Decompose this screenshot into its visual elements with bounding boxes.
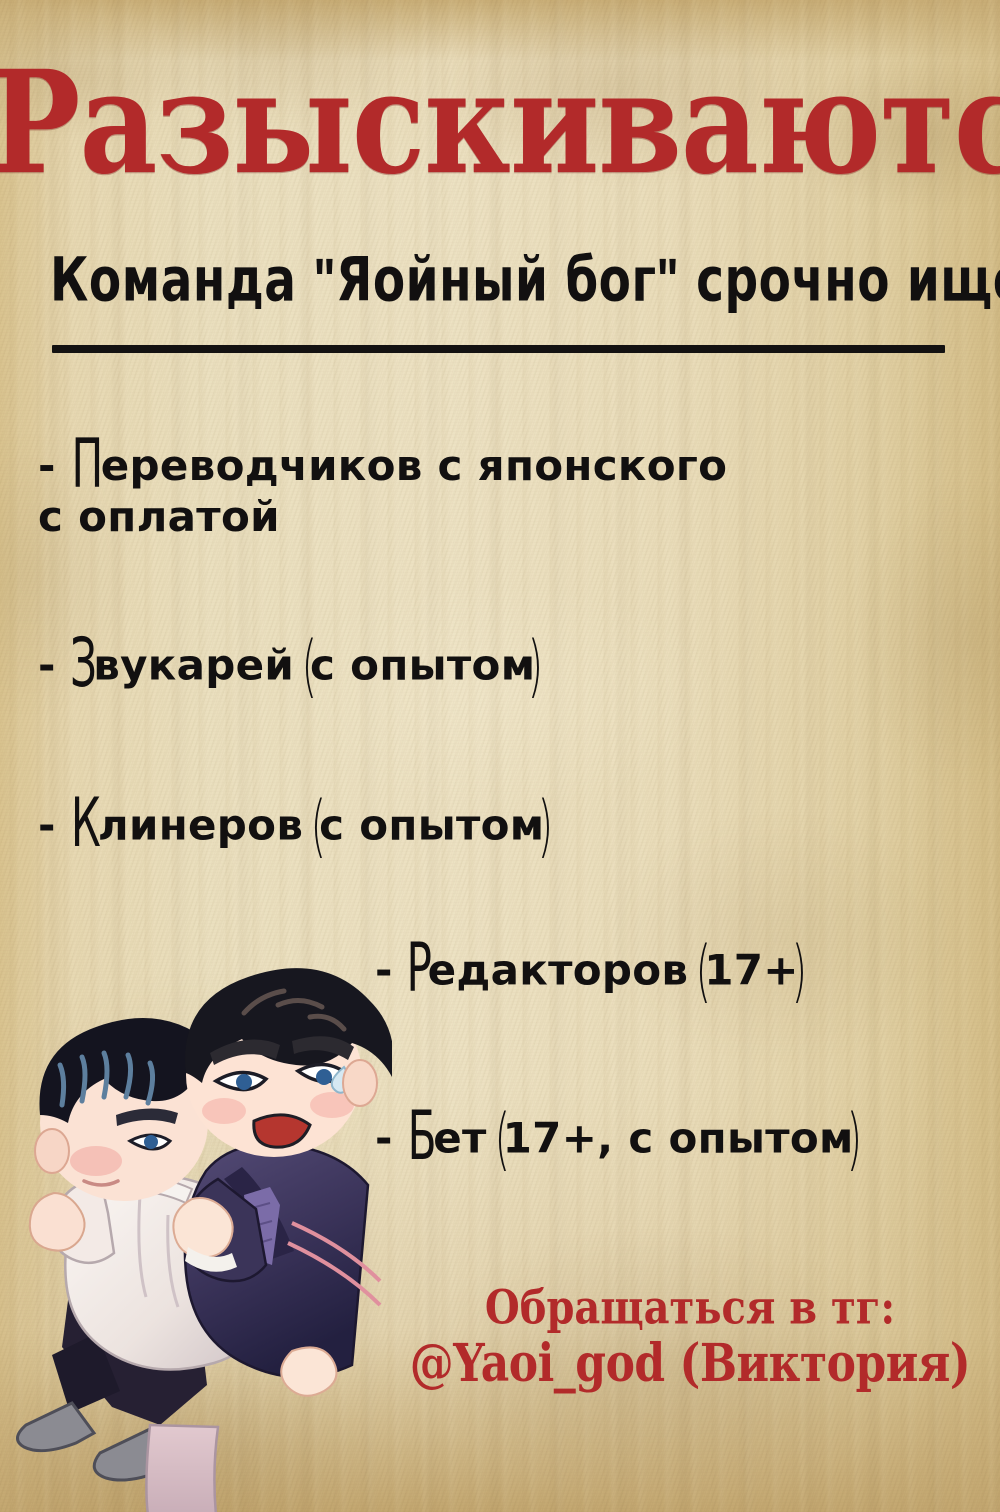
carrier-support-hand (281, 1347, 336, 1395)
list-item: - Звукарей (с опытом) (38, 625, 536, 708)
paren-open: ( (311, 785, 327, 868)
subtitle-block: Команда "Яойный бог" срочно ищет: (50, 255, 950, 305)
list-item-qualifier: 17+, с опытом (503, 1113, 854, 1162)
paren-open: ( (696, 930, 712, 1013)
subtitle-underline-rule (52, 345, 945, 353)
subtitle-suffix: срочно ищет: (679, 245, 1000, 315)
subtitle-prefix: Команда (50, 245, 313, 315)
contact-block: Обращаться в тг: @Yaoi_god (Виктория) (400, 1282, 980, 1393)
list-item: - Переводчиков с японского с оплатой (38, 440, 727, 542)
contact-label: Обращаться в тг: (400, 1282, 980, 1335)
list-item-text: едакторов (428, 945, 689, 994)
quote-open-mark: " (313, 245, 336, 313)
quote-close-mark: " (657, 245, 680, 313)
list-bullet: - (38, 640, 56, 689)
list-item: - Редакторов (17+) (375, 930, 800, 1013)
paren-open: ( (494, 1098, 510, 1181)
carrier-trouser-leg (146, 1425, 218, 1512)
paren-close: ) (846, 1098, 862, 1181)
chibi-couple-illustration (0, 955, 392, 1512)
list-item: - Клинеров (с опытом) (38, 785, 545, 868)
drop-cap-letter: Б (407, 1117, 435, 1158)
list-item: - Бет (17+, с опытом) (375, 1098, 855, 1181)
list-item-text: вукарей (93, 640, 294, 689)
drop-cap-letter: З (70, 644, 96, 685)
paren-close: ) (791, 930, 807, 1013)
list-item-qualifier: с опытом (310, 640, 535, 689)
paren-close: ) (528, 625, 544, 708)
list-item-subline: с оплатой (38, 491, 727, 542)
list-item-text: линеров (98, 800, 303, 849)
list-bullet: - (38, 441, 56, 490)
list-bullet: - (38, 800, 56, 849)
subtitle-line: Команда "Яойный бог" срочно ищет: (50, 248, 950, 312)
drop-cap-letter: К (71, 804, 100, 845)
carrier-ear (343, 1060, 377, 1106)
team-name: Яойный бог (336, 245, 656, 315)
carried-blush (70, 1146, 122, 1176)
contact-telegram-handle[interactable]: @Yaoi_god (Виктория) (400, 1335, 980, 1393)
list-item-text: ет (433, 1113, 486, 1162)
paren-close: ) (537, 785, 553, 868)
carrier-pupil-left (236, 1074, 252, 1090)
list-item-qualifier: 17+ (704, 945, 799, 994)
drop-cap-letter: П (71, 445, 102, 486)
drop-cap-letter: Р (406, 949, 431, 990)
carrier-blush-left (202, 1098, 246, 1124)
list-item-qualifier: с опытом (319, 800, 544, 849)
poster-title: Разыскиваются (0, 52, 1000, 194)
list-item-text: ереводчиков с японского (101, 441, 728, 490)
carrier-pupil-right (316, 1069, 332, 1085)
wanted-poster: Разыскиваются Команда "Яойный бог" срочн… (0, 0, 1000, 1512)
poster-content: Разыскиваются Команда "Яойный бог" срочн… (0, 0, 1000, 1512)
carried-ear (35, 1129, 69, 1173)
paren-open: ( (302, 625, 318, 708)
carried-shoe-left (17, 1403, 94, 1451)
carried-pupil (144, 1135, 158, 1149)
